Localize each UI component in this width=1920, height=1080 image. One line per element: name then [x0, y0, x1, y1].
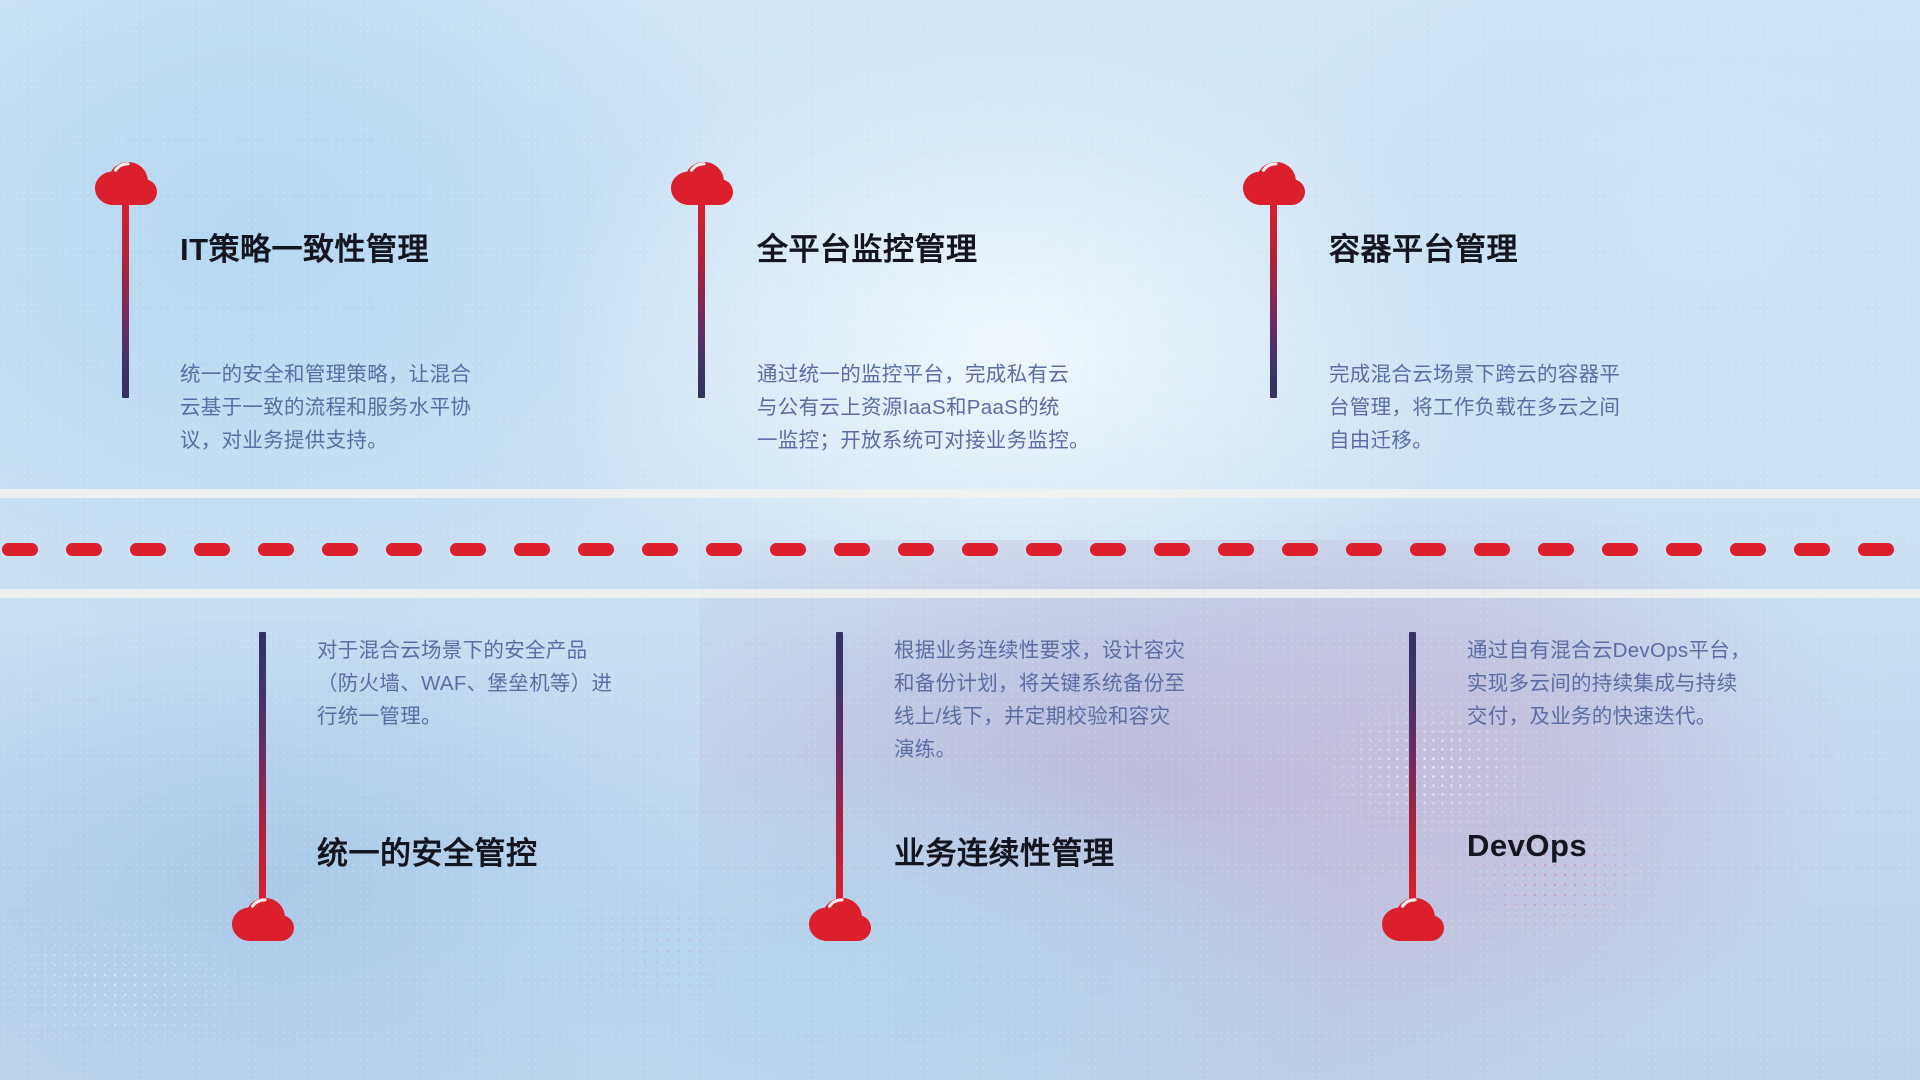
road-center-dash: [450, 543, 486, 556]
road-center-dash: [514, 543, 550, 556]
cloud-pin-icon[interactable]: [1382, 898, 1444, 942]
marker-title: 统一的安全管控: [317, 828, 538, 873]
road-center-dash: [962, 543, 998, 556]
road-center-dash: [1538, 543, 1574, 556]
road-center-dash: [1282, 543, 1318, 556]
marker-description: 根据业务连续性要求，设计容灾 和备份计划，将关键系统备份至 线上/线下，并定期校…: [894, 634, 1326, 766]
infographic-canvas: IT策略一致性管理 统一的安全和管理策略，让混合 云基于一致的流程和服务水平协 …: [0, 0, 1920, 1080]
road-center-dash: [1154, 543, 1190, 556]
marker-title: 容器平台管理: [1329, 224, 1518, 269]
road-center-dash: [66, 543, 102, 556]
marker-title: DevOps: [1467, 828, 1587, 864]
marker-title: 全平台监控管理: [757, 224, 978, 269]
road-center-dash: [130, 543, 166, 556]
marker-description: 通过自有混合云DevOps平台， 实现多云间的持续集成与持续 交付，及业务的快速…: [1467, 634, 1899, 733]
marker-title: IT策略一致性管理: [180, 224, 429, 269]
cloud-pin-icon[interactable]: [809, 898, 871, 942]
road-center-dash: [642, 543, 678, 556]
road-center-dash: [386, 543, 422, 556]
marker-stem: [698, 200, 705, 398]
road-center-dash: [1666, 543, 1702, 556]
road-center-dash: [1858, 543, 1894, 556]
road-center-dash: [1090, 543, 1126, 556]
road-center-dash: [1410, 543, 1446, 556]
marker-stem: [1270, 200, 1277, 398]
marker-title: 业务连续性管理: [894, 828, 1115, 873]
road-center-dash: [1474, 543, 1510, 556]
road-center-dash: [1346, 543, 1382, 556]
road-center-dash: [258, 543, 294, 556]
road-center-dash: [1026, 543, 1062, 556]
road-center-dash: [770, 543, 806, 556]
marker-description: 通过统一的监控平台，完成私有云 与公有云上资源IaaS和PaaS的统 一监控；开…: [757, 358, 1207, 457]
road-center-dash: [1794, 543, 1830, 556]
road-center-dash: [706, 543, 742, 556]
road-center-dashed-line: [0, 543, 1920, 556]
road-center-dash: [322, 543, 358, 556]
road-center-dash: [898, 543, 934, 556]
marker-stem: [836, 632, 843, 904]
marker-stem: [259, 632, 266, 904]
road-center-dash: [194, 543, 230, 556]
road-edge-line-bottom: [0, 589, 1920, 598]
road-center-dash: [1218, 543, 1254, 556]
marker-description: 对于混合云场景下的安全产品 （防火墙、WAF、堡垒机等）进 行统一管理。: [317, 634, 749, 733]
road-center-dash: [1730, 543, 1766, 556]
marker-description: 完成混合云场景下跨云的容器平 台管理，将工作负载在多云之间 自由迁移。: [1329, 358, 1761, 457]
road-center-dash: [578, 543, 614, 556]
road-center-dash: [834, 543, 870, 556]
road-center-dash: [1602, 543, 1638, 556]
marker-stem: [122, 200, 129, 398]
cloud-pin-icon[interactable]: [232, 898, 294, 942]
road-edge-line-top: [0, 489, 1920, 498]
road-center-dash: [2, 543, 38, 556]
marker-description: 统一的安全和管理策略，让混合 云基于一致的流程和服务水平协 议，对业务提供支持。: [180, 358, 612, 457]
marker-stem: [1409, 632, 1416, 904]
